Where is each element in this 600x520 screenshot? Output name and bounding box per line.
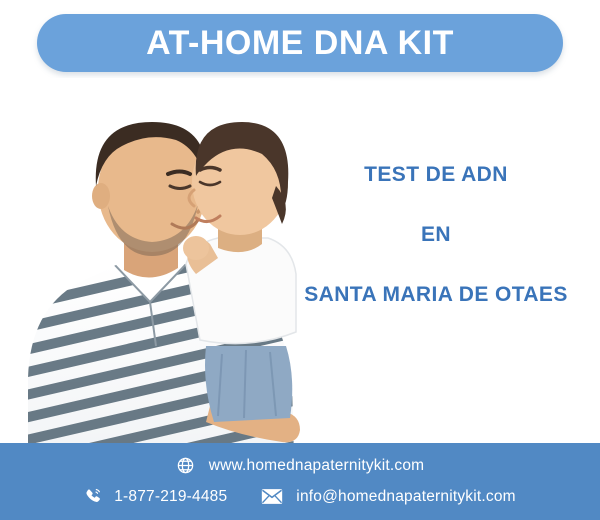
headline-line-2: EN (272, 224, 600, 245)
title-banner: AT-HOME DNA KIT (37, 14, 563, 72)
footer-contact-row: 1-877-219-4485 info@homednapaternitykit.… (0, 487, 600, 506)
contact-footer: www.homednapaternitykit.com 1-877-219-44… (0, 443, 600, 520)
website-text[interactable]: www.homednapaternitykit.com (209, 457, 425, 475)
globe-icon (176, 456, 195, 475)
headline-block: TEST DE ADN EN SANTA MARIA DE OTAES (272, 150, 600, 305)
page-title: AT-HOME DNA KIT (146, 26, 454, 60)
phone-icon (84, 487, 103, 506)
email-text[interactable]: info@homednapaternitykit.com (296, 488, 516, 506)
phone-text[interactable]: 1-877-219-4485 (114, 488, 227, 506)
headline-line-3: SANTA MARIA DE OTAES (272, 284, 600, 305)
dna-kit-promo-poster: AT-HOME DNA KIT (0, 0, 600, 520)
envelope-icon (261, 488, 283, 505)
headline-line-1: TEST DE ADN (272, 164, 600, 185)
footer-website-row: www.homednapaternitykit.com (0, 456, 600, 475)
